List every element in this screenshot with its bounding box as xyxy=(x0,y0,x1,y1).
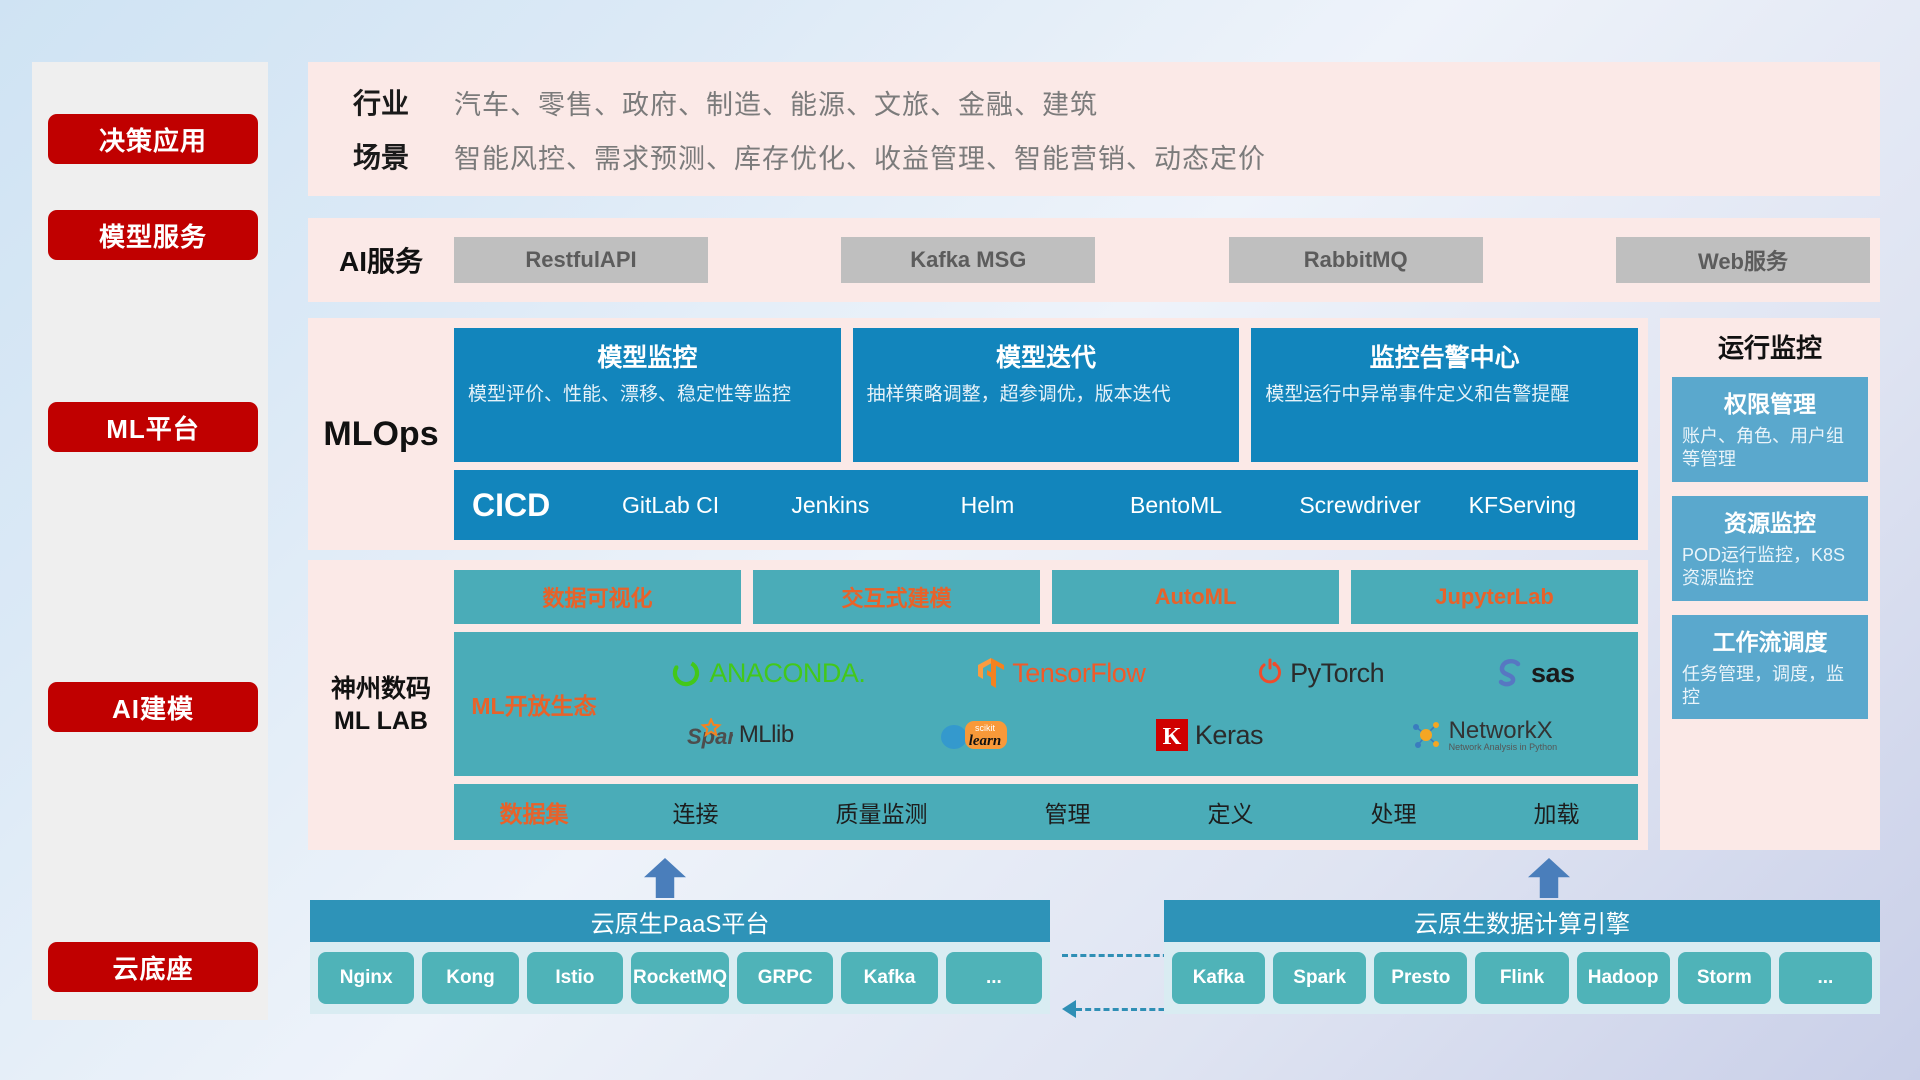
sas-logo: sas xyxy=(1495,657,1575,689)
keras-wordmark: Keras xyxy=(1195,720,1263,751)
svg-text:Spark: Spark xyxy=(687,724,733,749)
scenario-values: 智能风控、需求预测、库存优化、收益管理、智能营销、动态定价 xyxy=(454,137,1266,176)
pytorch-wordmark: PyTorch xyxy=(1290,658,1384,689)
paas-chip-rocketmq[interactable]: RocketMQ xyxy=(631,952,729,1004)
anaconda-icon xyxy=(669,656,703,690)
industry-label: 行业 xyxy=(308,82,454,122)
scenario-label: 场景 xyxy=(308,136,454,176)
ai-service-band: AI服务 RestfulAPI Kafka MSG RabbitMQ Web服务 xyxy=(308,218,1880,302)
cloud-paas-title: 云原生PaaS平台 xyxy=(310,900,1050,942)
ai-service-chip-group: RestfulAPI Kafka MSG RabbitMQ Web服务 xyxy=(454,237,1880,283)
tensorflow-logo: TensorFlow xyxy=(976,656,1145,690)
ai-service-chip-restfulapi[interactable]: RestfulAPI xyxy=(454,237,708,283)
rail-item-cloud-base[interactable]: 云底座 xyxy=(48,942,258,992)
card-title: 权限管理 xyxy=(1682,385,1858,419)
spark-icon: Spark xyxy=(687,718,733,752)
card-desc: POD运行监控，K8S资源监控 xyxy=(1682,544,1858,591)
cloud-paas-chip-group: Nginx Kong Istio RocketMQ GRPC Kafka ... xyxy=(310,942,1050,1014)
mlops-label: MLOps xyxy=(308,318,454,550)
card-title: 模型监控 xyxy=(468,338,827,374)
card-desc: 任务管理，调度，监控 xyxy=(1682,663,1858,710)
ml-tool-data-visualization[interactable]: 数据可视化 xyxy=(454,570,741,624)
engine-chip-spark[interactable]: Spark xyxy=(1273,952,1366,1004)
ml-lab-label-line2: ML LAB xyxy=(334,705,428,738)
ml-tool-automl[interactable]: AutoML xyxy=(1052,570,1339,624)
run-monitor-title: 运行监控 xyxy=(1672,328,1868,365)
arrow-up-paas xyxy=(644,858,686,898)
ml-tool-interactive-modeling[interactable]: 交互式建模 xyxy=(753,570,1040,624)
monitor-card-permission[interactable]: 权限管理 账户、角色、用户组等管理 xyxy=(1672,377,1868,482)
spark-mllib-logo: Spark MLlib xyxy=(687,718,794,752)
ai-service-label: AI服务 xyxy=(308,240,454,280)
ai-service-chip-kafka-msg[interactable]: Kafka MSG xyxy=(841,237,1095,283)
cloud-paas-block: 云原生PaaS平台 Nginx Kong Istio RocketMQ GRPC… xyxy=(310,900,1050,1014)
scikit-learn-icon: scikit learn xyxy=(939,717,1009,753)
engine-chip-hadoop[interactable]: Hadoop xyxy=(1577,952,1670,1004)
dataset-item-define[interactable]: 定义 xyxy=(1208,795,1254,829)
svg-text:learn: learn xyxy=(969,733,1002,749)
cloud-engine-title: 云原生数据计算引擎 xyxy=(1164,900,1880,942)
rail-item-decision-app[interactable]: 决策应用 xyxy=(48,114,258,164)
mlops-card-model-monitoring[interactable]: 模型监控 模型评价、性能、漂移、稳定性等监控 xyxy=(454,328,841,462)
svg-text:scikit: scikit xyxy=(975,723,995,733)
left-rail: 决策应用 模型服务 ML平台 AI建模 云底座 xyxy=(32,62,268,1020)
ml-tool-jupyterlab[interactable]: JupyterLab xyxy=(1351,570,1638,624)
dataset-item-quality[interactable]: 质量监测 xyxy=(836,795,928,829)
mllib-wordmark: MLlib xyxy=(739,721,794,749)
dataset-row: 数据集 连接 质量监测 管理 定义 处理 加载 xyxy=(454,784,1638,840)
ml-tool-group: 数据可视化 交互式建模 AutoML JupyterLab xyxy=(454,570,1638,624)
ai-service-chip-web-service[interactable]: Web服务 xyxy=(1616,237,1870,283)
paas-chip-grpc[interactable]: GRPC xyxy=(737,952,833,1004)
keras-logo: K Keras xyxy=(1155,718,1263,752)
industry-values: 汽车、零售、政府、制造、能源、文旅、金融、建筑 xyxy=(454,83,1098,122)
ml-lab-content: 数据可视化 交互式建模 AutoML JupyterLab ML开放生态 xyxy=(454,560,1648,850)
anaconda-wordmark: ANACONDA. xyxy=(709,658,865,689)
mlops-band: MLOps 模型监控 模型评价、性能、漂移、稳定性等监控 模型迭代 抽样策略调整… xyxy=(308,318,1648,550)
card-title: 模型迭代 xyxy=(867,338,1226,374)
dataset-item-manage[interactable]: 管理 xyxy=(1045,795,1091,829)
rail-item-model-service[interactable]: 模型服务 xyxy=(48,210,258,260)
engine-chip-storm[interactable]: Storm xyxy=(1678,952,1771,1004)
ml-lab-band: 神州数码 ML LAB 数据可视化 交互式建模 AutoML JupyterLa… xyxy=(308,560,1648,850)
card-desc: 模型运行中异常事件定义和告警提醒 xyxy=(1265,382,1624,407)
dataset-item-process[interactable]: 处理 xyxy=(1371,795,1417,829)
dataset-label: 数据集 xyxy=(454,795,614,829)
mlops-card-model-iteration[interactable]: 模型迭代 抽样策略调整，超参调优，版本迭代 xyxy=(853,328,1240,462)
sas-icon xyxy=(1495,657,1525,689)
cicd-item-group: GitLab CI Jenkins Helm BentoML Screwdriv… xyxy=(622,493,1638,517)
scenario-row: 场景 智能风控、需求预测、库存优化、收益管理、智能营销、动态定价 xyxy=(308,129,1880,183)
engine-chip-more[interactable]: ... xyxy=(1779,952,1872,1004)
anaconda-logo: ANACONDA. xyxy=(669,656,865,690)
card-title: 监控告警中心 xyxy=(1265,338,1624,374)
cicd-item-gitlab-ci[interactable]: GitLab CI xyxy=(622,493,791,517)
engine-chip-flink[interactable]: Flink xyxy=(1475,952,1568,1004)
dataset-item-group: 连接 质量监测 管理 定义 处理 加载 xyxy=(614,795,1638,829)
paas-chip-nginx[interactable]: Nginx xyxy=(318,952,414,1004)
card-title: 资源监控 xyxy=(1682,504,1858,538)
decision-app-band: 行业 汽车、零售、政府、制造、能源、文旅、金融、建筑 场景 智能风控、需求预测、… xyxy=(308,62,1880,196)
scikit-learn-logo: scikit learn xyxy=(939,717,1009,753)
engine-chip-presto[interactable]: Presto xyxy=(1374,952,1467,1004)
card-desc: 抽样策略调整，超参调优，版本迭代 xyxy=(867,382,1226,407)
svg-text:K: K xyxy=(1163,724,1182,750)
rail-item-ai-modeling[interactable]: AI建模 xyxy=(48,682,258,732)
engine-chip-kafka[interactable]: Kafka xyxy=(1172,952,1265,1004)
paas-chip-kong[interactable]: Kong xyxy=(422,952,518,1004)
arrow-up-engine xyxy=(1528,858,1570,898)
cicd-item-bentoml[interactable]: BentoML xyxy=(1130,493,1299,517)
networkx-logo: NetworkX Network Analysis in Python xyxy=(1409,718,1558,752)
dataset-item-connect[interactable]: 连接 xyxy=(673,795,719,829)
ai-service-chip-rabbitmq[interactable]: RabbitMQ xyxy=(1229,237,1483,283)
cicd-bar: CICD GitLab CI Jenkins Helm BentoML Scre… xyxy=(454,470,1638,540)
paas-chip-kafka[interactable]: Kafka xyxy=(841,952,937,1004)
pytorch-icon xyxy=(1256,657,1284,689)
keras-icon: K xyxy=(1155,718,1189,752)
sas-wordmark: sas xyxy=(1531,658,1575,689)
paas-chip-istio[interactable]: Istio xyxy=(527,952,623,1004)
mlops-card-alert-center[interactable]: 监控告警中心 模型运行中异常事件定义和告警提醒 xyxy=(1251,328,1638,462)
mlops-content: 模型监控 模型评价、性能、漂移、稳定性等监控 模型迭代 抽样策略调整，超参调优，… xyxy=(454,318,1648,550)
ml-ecosystem-label: ML开放生态 xyxy=(454,687,614,721)
networkx-wordmark: NetworkX xyxy=(1449,719,1558,743)
ml-lab-label: 神州数码 ML LAB xyxy=(308,560,454,850)
cloud-engine-chip-group: Kafka Spark Presto Flink Hadoop Storm ..… xyxy=(1164,942,1880,1014)
run-monitor-panel: 运行监控 权限管理 账户、角色、用户组等管理 资源监控 POD运行监控，K8S资… xyxy=(1660,318,1880,850)
ml-ecosystem-row: ML开放生态 ANACONDA. xyxy=(454,632,1638,776)
card-desc: 账户、角色、用户组等管理 xyxy=(1682,425,1858,472)
monitor-card-resource[interactable]: 资源监控 POD运行监控，K8S资源监控 xyxy=(1672,496,1868,601)
cicd-item-kfserving[interactable]: KFServing xyxy=(1469,493,1638,517)
tensorflow-wordmark: TensorFlow xyxy=(1012,658,1145,689)
cicd-label: CICD xyxy=(472,487,622,524)
logo-line-1: ANACONDA. TensorFlow xyxy=(614,644,1630,702)
tensorflow-icon xyxy=(976,656,1006,690)
industry-row: 行业 汽车、零售、政府、制造、能源、文旅、金融、建筑 xyxy=(308,75,1880,129)
logo-line-2: Spark MLlib scikit learn xyxy=(614,706,1630,764)
paas-chip-more[interactable]: ... xyxy=(946,952,1042,1004)
pytorch-logo: PyTorch xyxy=(1256,657,1384,689)
card-desc: 模型评价、性能、漂移、稳定性等监控 xyxy=(468,382,827,407)
networkx-icon xyxy=(1409,718,1443,752)
cicd-item-screwdriver[interactable]: Screwdriver xyxy=(1299,493,1468,517)
architecture-diagram: 决策应用 模型服务 ML平台 AI建模 云底座 行业 汽车、零售、政府、制造、能… xyxy=(0,0,1920,1080)
rail-item-ml-platform[interactable]: ML平台 xyxy=(48,402,258,452)
cicd-item-jenkins[interactable]: Jenkins xyxy=(791,493,960,517)
monitor-card-workflow[interactable]: 工作流调度 任务管理，调度，监控 xyxy=(1672,615,1868,720)
card-title: 工作流调度 xyxy=(1682,623,1858,657)
cicd-item-helm[interactable]: Helm xyxy=(961,493,1130,517)
ml-ecosystem-logos: ANACONDA. TensorFlow xyxy=(614,644,1638,764)
dataset-item-load[interactable]: 加载 xyxy=(1534,795,1580,829)
mlops-card-group: 模型监控 模型评价、性能、漂移、稳定性等监控 模型迭代 抽样策略调整，超参调优，… xyxy=(454,328,1638,462)
cloud-engine-block: 云原生数据计算引擎 Kafka Spark Presto Flink Hadoo… xyxy=(1164,900,1880,1014)
networkx-tagline: Network Analysis in Python xyxy=(1449,743,1558,752)
ml-lab-label-line1: 神州数码 xyxy=(331,673,431,706)
